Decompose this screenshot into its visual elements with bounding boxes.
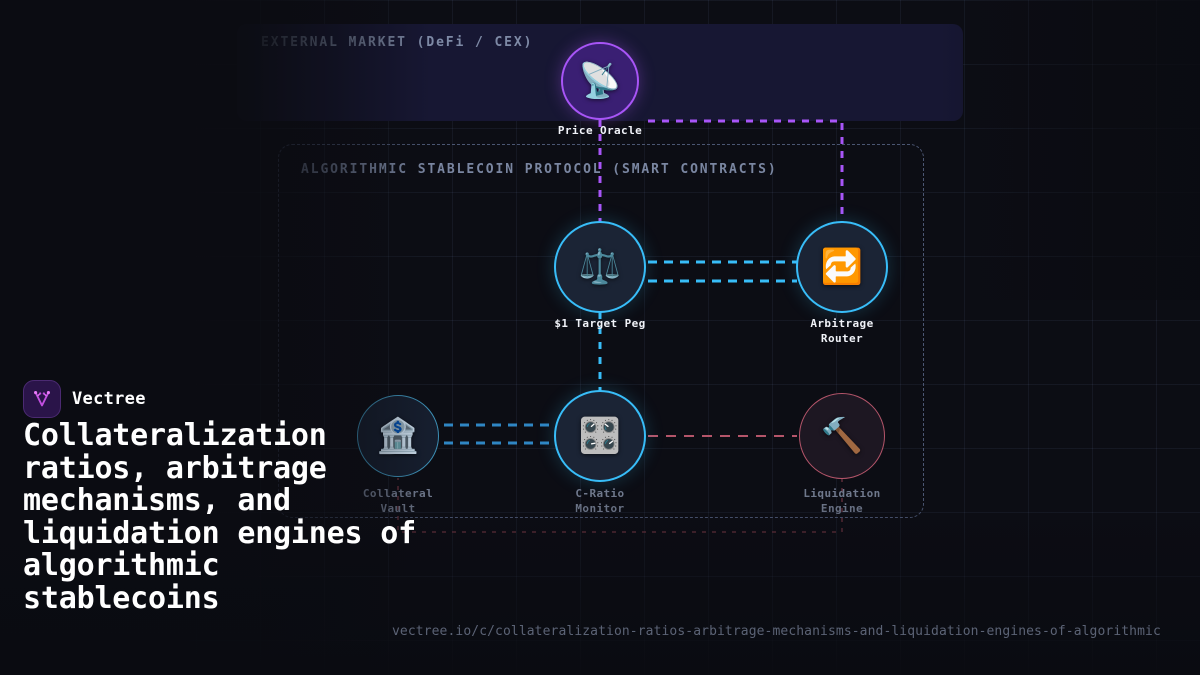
node-cratio-monitor-disc: 🎛️ [554,390,646,482]
page-title: Collateralization ratios, arbitrage mech… [23,420,423,615]
right-fade-overlay [940,0,1200,300]
node-arbitrage-router-disc: 🔁 [796,221,888,313]
balance-scale-icon: ⚖️ [579,250,621,284]
page-url: vectree.io/c/collateralization-ratios-ar… [392,624,1161,639]
brand: Vectree [23,380,146,418]
swap-arrows-icon: 🔁 [821,250,863,284]
brand-name: Vectree [72,389,146,409]
node-target-peg-disc: ⚖️ [554,221,646,313]
diagram-canvas: EXTERNAL MARKET (DeFi / CEX) ALGORITHMIC… [0,0,1200,675]
node-price-oracle-label: Price Oracle [510,123,690,138]
node-arbitrage-router-label: Arbitrage Router [762,316,922,346]
control-knobs-icon: 🎛️ [579,419,621,453]
hammer-icon: 🔨 [821,419,863,453]
node-target-peg-label: $1 Target Peg [500,316,700,331]
vectree-v-logo-icon [23,380,61,418]
node-liquidation-engine-disc: 🔨 [799,393,885,479]
node-price-oracle-disc: 📡 [561,42,639,120]
satellite-dish-icon: 📡 [579,64,621,98]
vectree-v-logo-glyph [31,388,53,410]
